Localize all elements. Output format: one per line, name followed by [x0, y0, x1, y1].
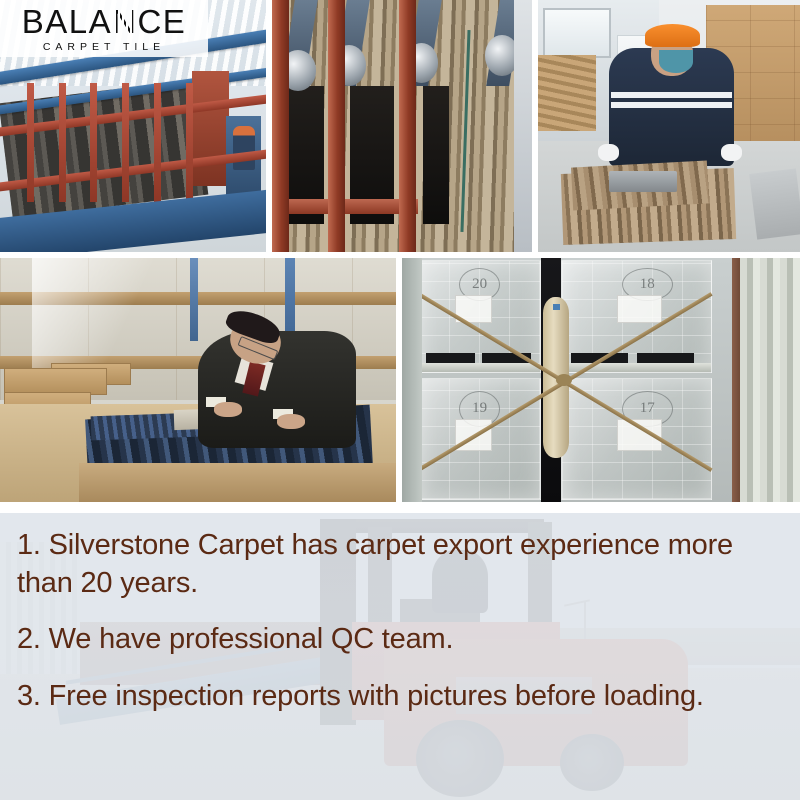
red-rail-v1	[27, 83, 34, 201]
inspector-hand-right	[277, 414, 305, 429]
brand-suffix: CE	[137, 5, 186, 38]
container-door-jamb	[402, 258, 422, 502]
red-post-1	[272, 0, 289, 252]
tile-pallet-stack	[538, 55, 596, 131]
container-corrugated-wall	[740, 258, 800, 502]
red-rail-v6	[186, 83, 193, 201]
grey-tile-sheet	[749, 169, 800, 240]
brand-wordmark: BALA N CE	[22, 5, 187, 38]
photo-container-loading: 20 18 19	[402, 258, 800, 502]
brand-prefix: BALA	[22, 5, 112, 38]
worker-packing-image	[538, 0, 800, 252]
face-mask	[659, 50, 693, 73]
red-rail-v4	[122, 83, 129, 201]
selling-points-list: 1. Silverstone Carpet has carpet export …	[17, 527, 786, 716]
brand-striped-letter: N	[112, 5, 137, 38]
blue-upright-2	[190, 258, 198, 341]
strap-knot	[556, 374, 572, 386]
orange-cap	[645, 24, 700, 47]
photo-qc-inspection	[0, 258, 396, 502]
photo-row-middle: 20 18 19	[0, 258, 800, 502]
photo-worker-packing	[538, 0, 800, 252]
selling-point-1: 1. Silverstone Carpet has carpet export …	[17, 527, 786, 602]
press-unit	[192, 71, 229, 187]
red-post-2	[328, 0, 345, 252]
container-frame-post	[732, 258, 740, 502]
backing-closeup-image	[272, 0, 532, 252]
qc-inspection-image	[0, 258, 396, 502]
red-rail-v5	[154, 83, 161, 201]
selling-points-panel: 1. Silverstone Carpet has carpet export …	[0, 513, 800, 800]
red-rail-v3	[90, 83, 97, 201]
dark-panel-3	[423, 86, 449, 225]
reflective-stripe-1	[611, 92, 732, 98]
metal-clamp	[609, 171, 677, 191]
factory-worker	[233, 126, 255, 170]
selling-point-2: 2. We have professional QC team.	[17, 621, 786, 659]
work-glove-left	[598, 144, 619, 162]
container-loading-image: 20 18 19	[402, 258, 800, 502]
warehouse-window	[543, 8, 611, 58]
inspector-hand-left	[214, 402, 242, 417]
promo-collage-page: 20 18 19	[0, 0, 800, 800]
selling-point-3: 3. Free inspection reports with pictures…	[17, 678, 786, 716]
pallet-edge	[79, 463, 396, 502]
photo-backing-closeup	[272, 0, 532, 252]
brand-logo: BALA N CE CARPET TILE	[0, 0, 208, 57]
work-glove-right	[721, 144, 742, 162]
red-post-3	[399, 0, 416, 252]
reflective-stripe-2	[611, 102, 732, 108]
brand-tagline: CARPET TILE	[43, 41, 165, 53]
carton-1	[4, 368, 107, 395]
background-edge	[514, 0, 532, 252]
red-rail-v2	[59, 83, 66, 201]
